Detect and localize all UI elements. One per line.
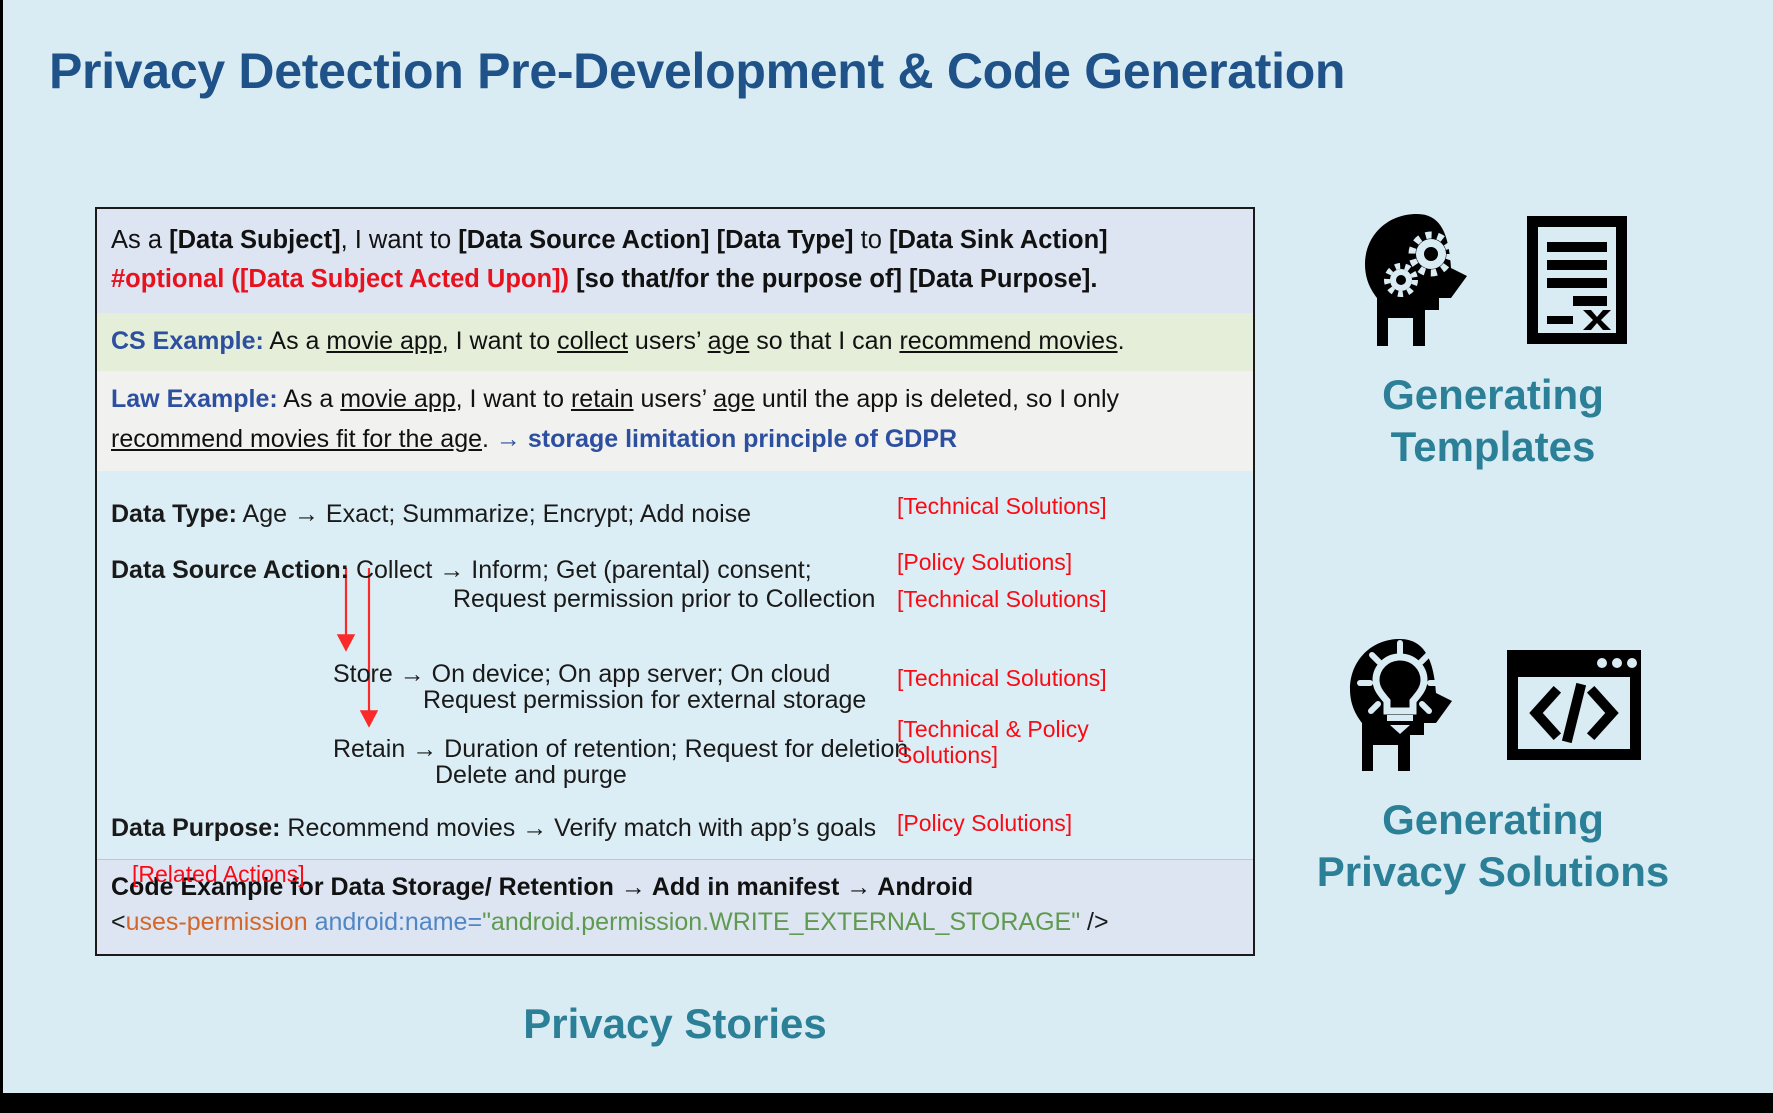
panel-2-label-line2: Privacy Solutions (1233, 846, 1753, 898)
code-attribute-value: "android.permission.WRITE_EXTERNAL_STORA… (482, 908, 1080, 936)
cs-underline-movie-app: movie app (326, 327, 441, 355)
related-actions-label: [Related Actions] (132, 861, 305, 888)
header-prefix: As a (111, 226, 169, 254)
cs-t5: . (1118, 327, 1125, 355)
code-open-bracket: < (111, 908, 126, 936)
panel-2-icons (1233, 630, 1753, 780)
code-example-snippet: <uses-permission android:name="android.p… (111, 905, 1239, 940)
panel-1-label-line2: Templates (1233, 421, 1753, 473)
row-store-cont: Request permission for external storage (423, 685, 866, 716)
template-line-1: As a [Data Subject], I want to [Data Sou… (111, 221, 1239, 260)
gdpr-arrow-icon: → (496, 425, 521, 453)
row-data-type: Data Type: Age → Exact; Summarize; Encry… (111, 499, 751, 530)
panel-generating-privacy-solutions: Generating Privacy Solutions (1233, 630, 1753, 898)
annotation-technical-solutions-datatype: [Technical Solutions] (897, 494, 1107, 520)
row-data-purpose: Data Purpose: Recommend movies → Verify … (111, 813, 876, 844)
law-underline-retain: retain (571, 385, 634, 413)
panel-2-label: Generating Privacy Solutions (1233, 794, 1753, 898)
template-header-band: As a [Data Subject], I want to [Data Sou… (97, 209, 1253, 313)
data-type-label: Data Type: (111, 500, 237, 528)
annotation-technical-solutions-collect: [Technical Solutions] (897, 587, 1107, 613)
panel-generating-templates: Generating Templates (1233, 205, 1753, 473)
bottom-black-bar (3, 1093, 1773, 1113)
optional-clause: #optional ([Data Subject Acted Upon]) (111, 265, 569, 293)
data-purpose-label: Data Purpose: (111, 814, 280, 842)
code-window-icon (1504, 647, 1644, 763)
privacy-story-template-card: As a [Data Subject], I want to [Data Sou… (95, 207, 1255, 956)
privacy-stories-caption: Privacy Stories (95, 1000, 1255, 1048)
law-underline-movie-app: movie app (340, 385, 455, 413)
data-source-action-label: Data Source Action: (111, 556, 349, 584)
cs-example-label: CS Example: (111, 327, 264, 355)
annotation-policy-solutions-purpose: [Policy Solutions] (897, 811, 1072, 837)
annotation-policy-solutions-collect: [Policy Solutions] (897, 550, 1072, 576)
panel-1-label-line1: Generating (1233, 369, 1753, 421)
panel-2-label-line1: Generating (1233, 794, 1753, 846)
cs-example-line: CS Example: As a movie app, I want to co… (111, 322, 1239, 362)
row-data-source-action-cont: Request permission prior to Collection (453, 584, 875, 615)
slide-canvas: Privacy Detection Pre-Development & Code… (0, 0, 1773, 1113)
cs-t2: , I want to (442, 327, 557, 355)
header-mid-1: , I want to (341, 226, 459, 254)
document-with-x-icon (1523, 212, 1631, 348)
row-data-source-action: Data Source Action: Collect → Inform; Ge… (111, 555, 812, 586)
placeholder-data-source-action: [Data Source Action] (458, 226, 709, 254)
annotation-technical-policy-solutions-retain: [Technical & Policy Solutions] (897, 717, 1097, 769)
law-t1: As a (278, 385, 341, 413)
data-purpose-value: Recommend movies → Verify match with app… (280, 814, 876, 842)
header-space (709, 226, 716, 254)
data-source-action-value: Collect → Inform; Get (parental) consent… (349, 556, 812, 584)
placeholder-data-type: [Data Type] (717, 226, 854, 254)
cs-t1: As a (264, 327, 327, 355)
law-example-line-1: Law Example: As a movie app, I want to r… (111, 380, 1239, 420)
cs-underline-collect: collect (557, 327, 628, 355)
page-title: Privacy Detection Pre-Development & Code… (49, 44, 1709, 99)
row-retain-cont: Delete and purge (435, 760, 627, 791)
cs-t3: users’ (628, 327, 708, 355)
code-tag-name: uses-permission (126, 908, 308, 936)
law-underline-recommend-fit: recommend movies fit for the age (111, 425, 482, 453)
template-line-2: #optional ([Data Subject Acted Upon]) [s… (111, 260, 1239, 299)
law-t3: users’ (634, 385, 714, 413)
head-with-lightbulb-icon (1342, 635, 1474, 775)
law-t2: , I want to (456, 385, 571, 413)
template-body-band: Data Type: Age → Exact; Summarize; Encry… (97, 471, 1253, 859)
head-with-gears-icon (1355, 210, 1493, 350)
panel-1-icons (1233, 205, 1753, 355)
cs-example-band: CS Example: As a movie app, I want to co… (97, 313, 1253, 372)
purpose-clause: [so that/for the purpose of] [Data Purpo… (569, 265, 1097, 293)
code-attribute-name: android:name= (308, 908, 482, 936)
law-example-line-2: recommend movies fit for the age. → stor… (111, 420, 1239, 460)
law-t6: . (482, 425, 496, 453)
cs-underline-age: age (708, 327, 750, 355)
law-example-label: Law Example: (111, 385, 278, 413)
data-type-value: Age → Exact; Summarize; Encrypt; Add noi… (237, 500, 751, 528)
code-close-bracket: /> (1080, 908, 1109, 936)
annotation-technical-solutions-store: [Technical Solutions] (897, 666, 1107, 692)
gdpr-principle-label: storage limitation principle of GDPR (521, 425, 957, 453)
cs-underline-recommend-movies: recommend movies (899, 327, 1117, 355)
panel-1-label: Generating Templates (1233, 369, 1753, 473)
cs-t4: so that I can (749, 327, 899, 355)
law-t4: until the app is deleted, so I only (755, 385, 1119, 413)
placeholder-data-subject: [Data Subject] (169, 226, 340, 254)
law-example-band: Law Example: As a movie app, I want to r… (97, 371, 1253, 471)
header-mid-2: to (854, 226, 889, 254)
law-underline-age: age (713, 385, 755, 413)
placeholder-data-sink-action: [Data Sink Action] (889, 226, 1108, 254)
